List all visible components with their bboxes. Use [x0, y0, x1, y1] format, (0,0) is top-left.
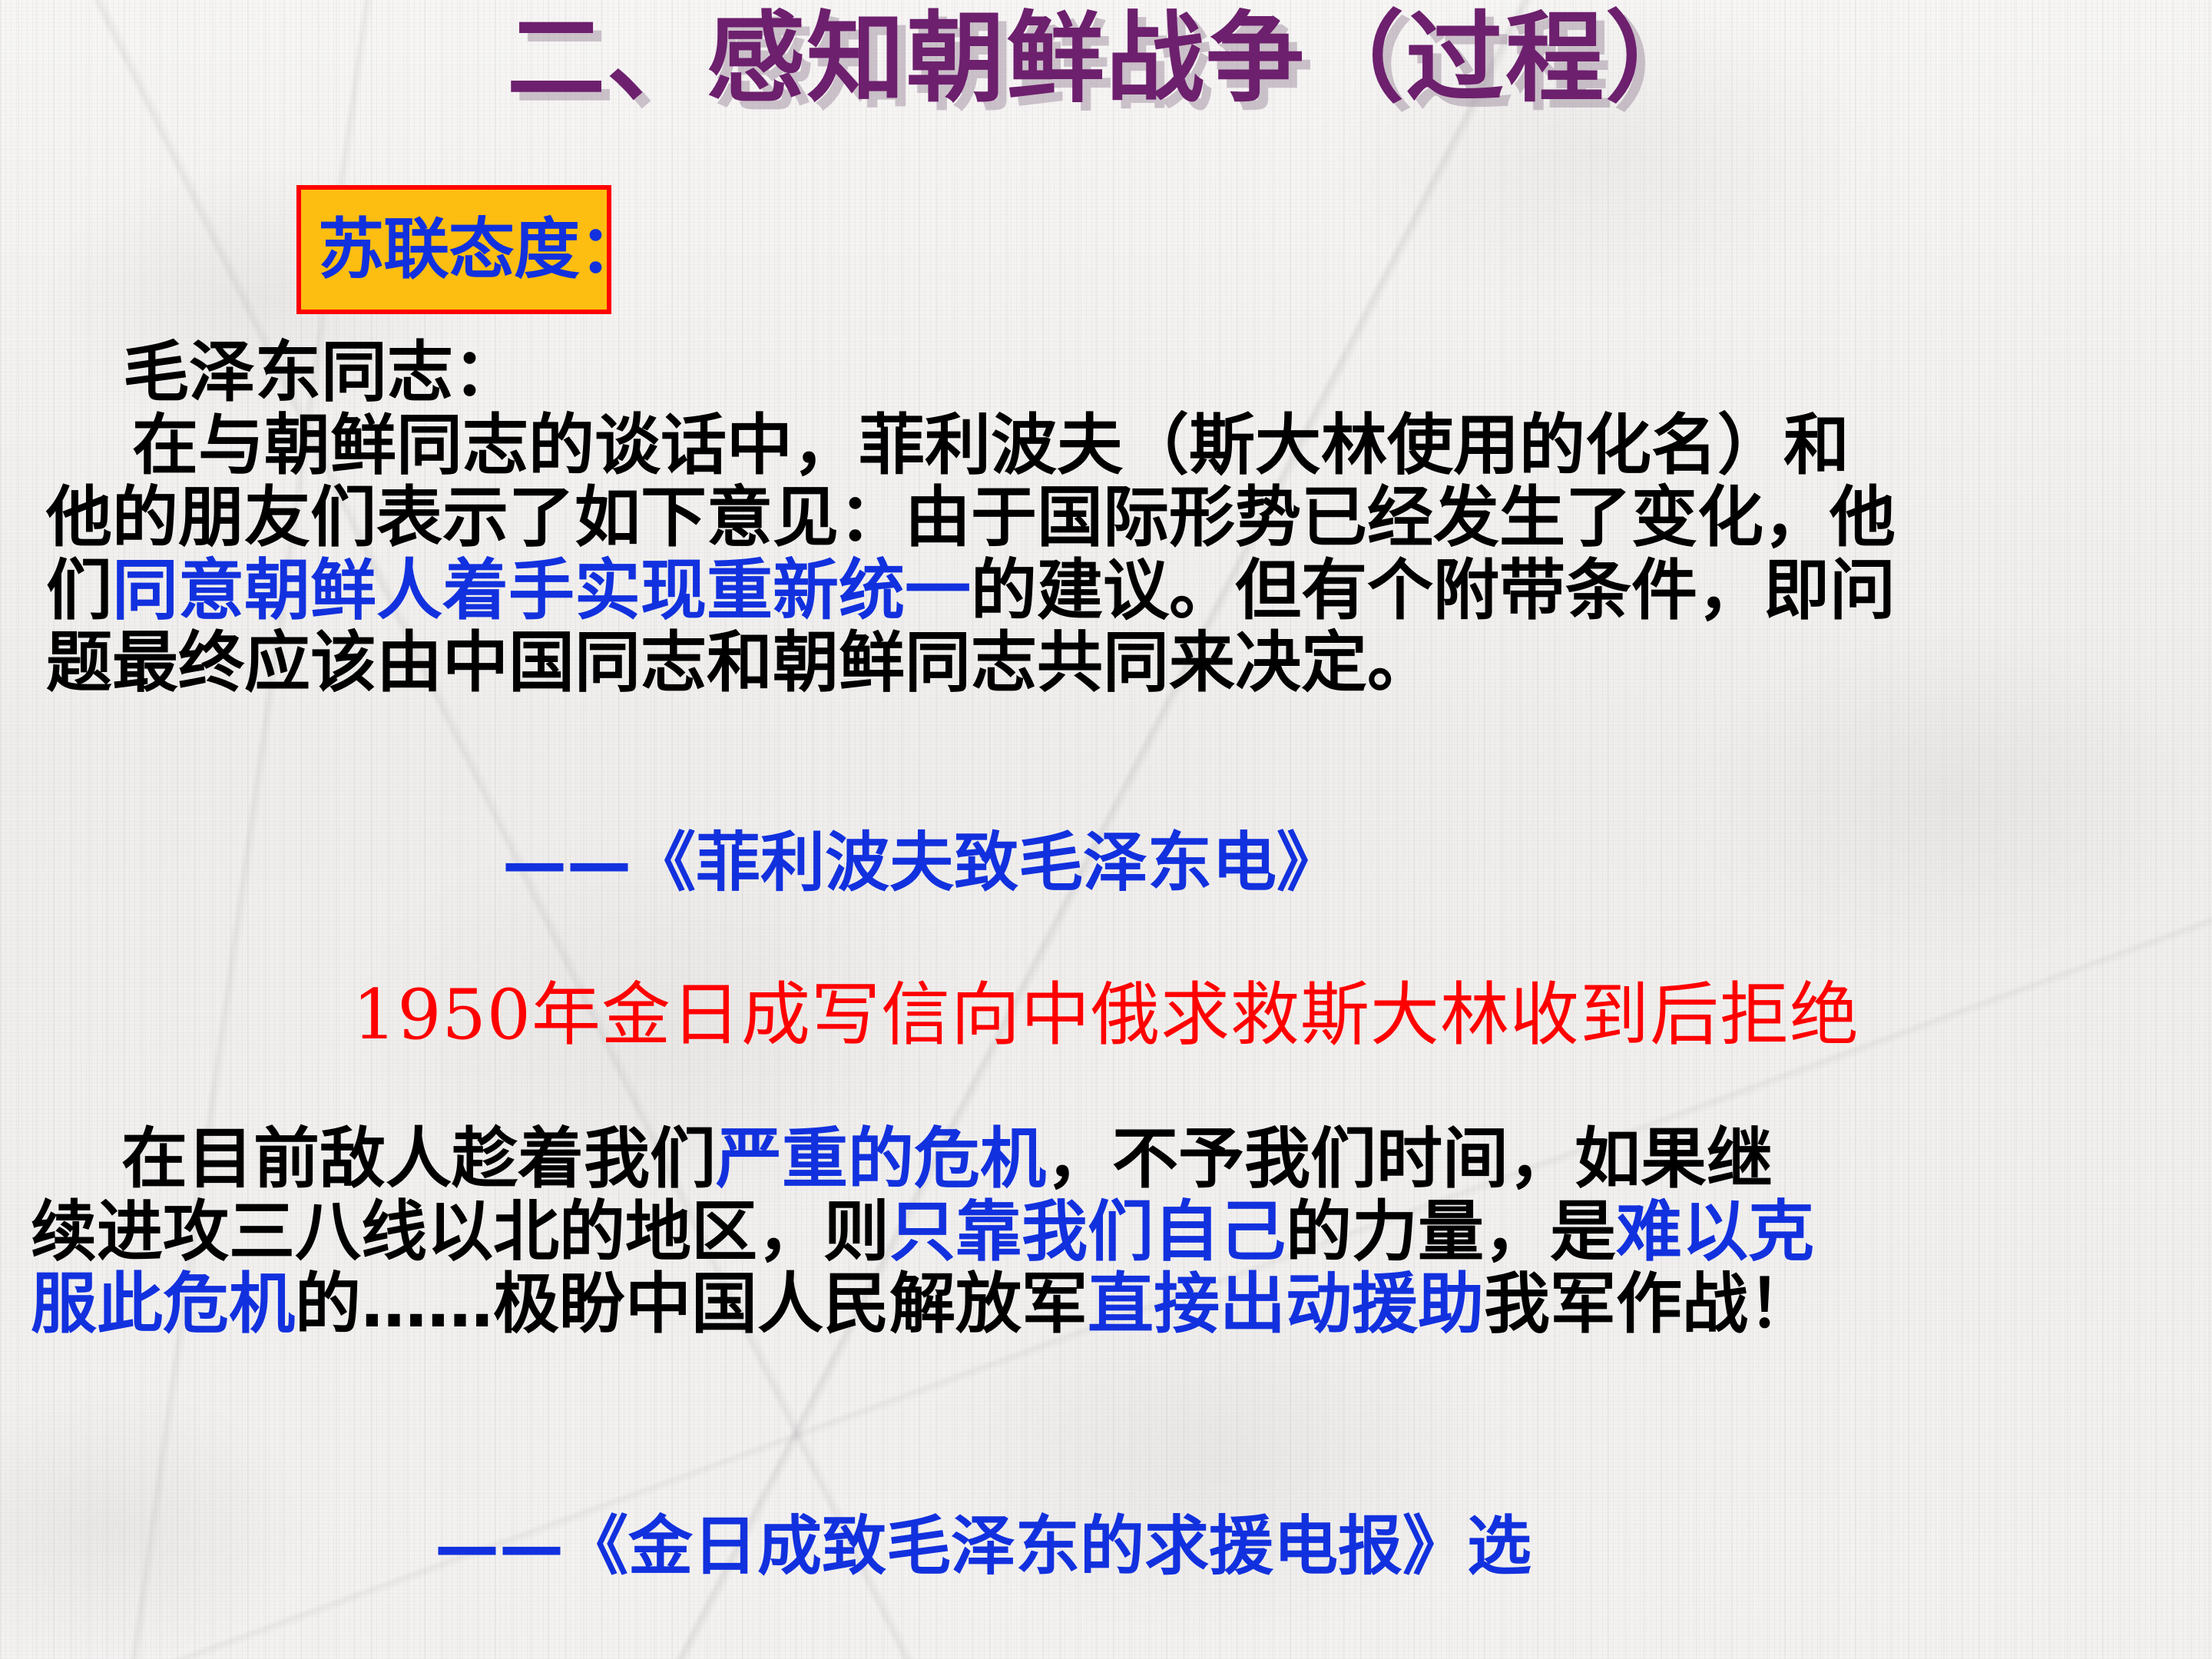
quote1-line-3: 们同意朝鲜人着手实现重新统一的建议。但有个附带条件，即问 [46, 555, 2166, 628]
page-title: 二、感知朝鲜战争（过程） [0, 8, 2212, 111]
quote2-line2-highlight: 只靠我们自己 [889, 1194, 1286, 1270]
quote2-source-title: ——《金日成致毛泽东的求援电报》 [435, 1508, 1467, 1584]
quote2-line-3: 服此危机的……极盼中国人民解放军直接出动援助我军作战！ [31, 1268, 2181, 1341]
quote1-line3-pre: 们 [46, 552, 112, 629]
quote2-line3-highlight: 服此危机 [31, 1266, 295, 1343]
quote2-source-attribution: ——《金日成致毛泽东的求援电报》选 [0, 1495, 1966, 1588]
quote2-line2-mid: 的力量，是 [1286, 1194, 1616, 1270]
quote2-line1-pre: 在目前敌人趁着我们 [121, 1121, 716, 1197]
slide-content: 二、感知朝鲜战争（过程） 苏联态度： 毛泽东同志： 在与朝鲜同志的谈话中，菲利波… [0, 0, 2212, 1659]
quote2-line1-highlight: 严重的危机 [716, 1121, 1046, 1197]
quote1-source-attribution: ——《菲利波夫致毛泽东电》 [0, 811, 1843, 904]
quote2-line2-pre: 续进攻三八线以北的地区，则 [31, 1194, 889, 1270]
quote2-line-1: 在目前敌人趁着我们严重的危机，不予我们时间，如果继 [31, 1123, 2181, 1196]
quote2-line3-post: 我军作战！ [1484, 1266, 1814, 1343]
quote1-line3-highlight: 同意朝鲜人着手实现重新统一 [112, 552, 971, 629]
quote1-salutation: 毛泽东同志： [46, 336, 2166, 409]
quote1-line3-post: 的建议。但有个附带条件，即问 [971, 552, 1896, 629]
quote2-line3-highlight-2: 直接出动援助 [1088, 1266, 1484, 1343]
quote1-line-4: 题最终应该由中国同志和朝鲜同志共同来决定。 [46, 627, 2166, 700]
quote2-line-2: 续进攻三八线以北的地区，则只靠我们自己的力量，是难以克 [31, 1196, 2181, 1269]
quote2-line1-post: ，不予我们时间，如果继 [1046, 1121, 1773, 1197]
quote2-source-tail: 选 [1467, 1508, 1532, 1584]
quote2-line3-mid: 的……极盼中国人民解放军 [295, 1266, 1088, 1343]
callout-label: 苏联态度： [318, 217, 644, 283]
telegram-quote-kim-il-sung: 在目前敌人趁着我们严重的危机，不予我们时间，如果继 续进攻三八线以北的地区，则只… [31, 1123, 2181, 1341]
telegram-quote-philippov: 毛泽东同志： 在与朝鲜同志的谈话中，菲利波夫（斯大林使用的化名）和 他的朋友们表… [46, 336, 2166, 700]
soviet-attitude-callout-box: 苏联态度： [296, 185, 611, 314]
quote2-line2-highlight-2: 难以克 [1616, 1194, 1814, 1270]
quote1-line-1: 在与朝鲜同志的谈话中，菲利波夫（斯大林使用的化名）和 [46, 409, 2166, 482]
red-statement: 1950年金日成写信向中俄求救斯大林收到后拒绝 [0, 959, 2212, 1058]
quote1-line-2: 他的朋友们表示了如下意见：由于国际形势已经发生了变化，他 [46, 482, 2166, 555]
